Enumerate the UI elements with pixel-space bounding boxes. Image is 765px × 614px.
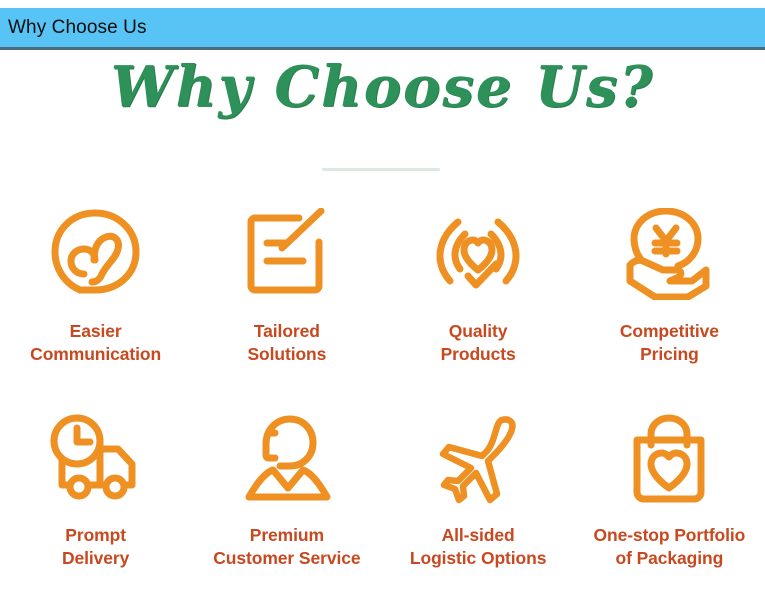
- hero-section: Why Choose Us? Why Choose Us?: [0, 59, 765, 171]
- headset-agent-icon: [239, 406, 335, 514]
- window-title: Why Choose Us: [0, 17, 147, 39]
- slide-content: Why Choose Us? Why Choose Us? Easier Com…: [0, 53, 765, 599]
- hero-headline-reflection: Why Choose Us?: [0, 121, 765, 167]
- hero-divider: [322, 168, 440, 171]
- feature-label: Prompt Delivery: [62, 524, 129, 571]
- feature-cell-easier-communication[interactable]: Easier Communication: [0, 198, 191, 406]
- feature-row: Easier Communication Tailored Solutions: [0, 198, 765, 406]
- ear-in-circle-icon: [50, 198, 142, 310]
- feature-label: Tailored Solutions: [247, 320, 326, 367]
- document-pencil-icon: [241, 198, 333, 310]
- feature-cell-tailored-solutions[interactable]: Tailored Solutions: [191, 198, 382, 406]
- shopping-bag-heart-icon: [623, 406, 715, 514]
- feature-cell-competitive-pricing[interactable]: Competitive Pricing: [574, 198, 765, 406]
- feature-label: Premium Customer Service: [213, 524, 360, 571]
- feature-cell-quality-products[interactable]: Quality Products: [383, 198, 574, 406]
- feature-cell-prompt-delivery[interactable]: Prompt Delivery: [0, 406, 191, 614]
- feature-cell-all-sided-logistic-options[interactable]: All-sided Logistic Options: [383, 406, 574, 614]
- feature-label: Quality Products: [441, 320, 516, 367]
- airplane-icon: [430, 406, 526, 514]
- delivery-truck-clock-icon: [46, 406, 146, 514]
- hero-headline: Why Choose Us?: [0, 59, 765, 115]
- feature-label: Competitive Pricing: [620, 320, 719, 367]
- heart-signal-check-icon: [432, 198, 524, 310]
- feature-label: All-sided Logistic Options: [410, 524, 546, 571]
- hero-headline-text: Why Choose Us?: [111, 59, 654, 115]
- feature-label: Easier Communication: [30, 320, 161, 367]
- hand-holding-yen-coin-icon: [622, 198, 716, 310]
- feature-label: One-stop Portfolio of Packaging: [593, 524, 745, 571]
- window-titlebar: Why Choose Us: [0, 8, 765, 50]
- feature-row: Prompt Delivery Premium Customer Service: [0, 406, 765, 614]
- feature-grid: Easier Communication Tailored Solutions: [0, 198, 765, 614]
- feature-cell-premium-customer-service[interactable]: Premium Customer Service: [191, 406, 382, 614]
- feature-cell-one-stop-portfolio-of-packaging[interactable]: One-stop Portfolio of Packaging: [574, 406, 765, 614]
